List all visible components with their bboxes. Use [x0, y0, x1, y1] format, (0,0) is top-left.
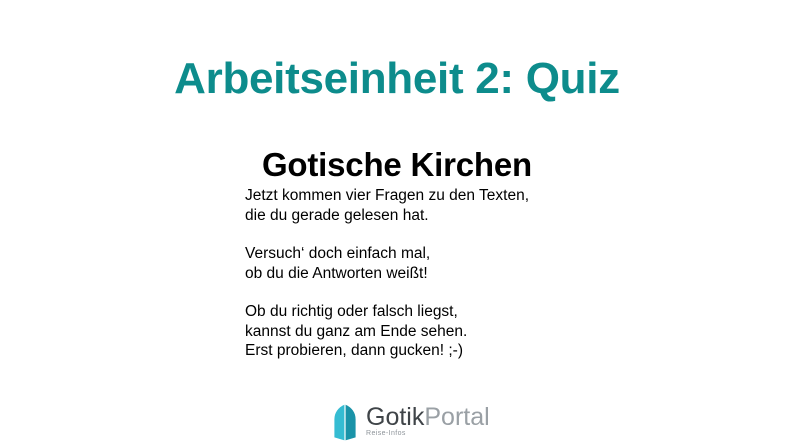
paragraph-3: Ob du richtig oder falsch liegst, kannst…: [245, 302, 665, 361]
gothic-arch-icon: [331, 404, 359, 441]
paragraph-1-line-2: die du gerade gelesen hat.: [245, 206, 665, 226]
slide-canvas: Arbeitseinheit 2: Quiz Gotische Kirchen …: [0, 0, 794, 446]
body-copy: Jetzt kommen vier Fragen zu den Texten, …: [245, 186, 665, 361]
logo-wordmark: GotikPortal: [366, 405, 490, 430]
paragraph-2-line-2: ob du die Antworten weißt!: [245, 264, 665, 284]
paragraph-1: Jetzt kommen vier Fragen zu den Texten, …: [245, 186, 665, 225]
gotikportal-logo: GotikPortal Reise-Infos: [331, 404, 490, 444]
logo-tagline: Reise-Infos: [366, 430, 490, 438]
paragraph-3-line-3: Erst probieren, dann gucken! ;-): [245, 341, 665, 361]
logo-text: GotikPortal Reise-Infos: [366, 404, 490, 438]
page-title: Arbeitseinheit 2: Quiz: [0, 55, 794, 103]
paragraph-3-line-1: Ob du richtig oder falsch liegst,: [245, 302, 665, 322]
paragraph-3-line-2: kannst du ganz am Ende sehen.: [245, 322, 665, 342]
paragraph-1-line-1: Jetzt kommen vier Fragen zu den Texten,: [245, 186, 665, 206]
paragraph-2: Versuch‘ doch einfach mal, ob du die Ant…: [245, 244, 665, 283]
paragraph-2-line-1: Versuch‘ doch einfach mal,: [245, 244, 665, 264]
logo-word-primary: Gotik: [366, 403, 424, 431]
logo-word-secondary: Portal: [424, 403, 489, 431]
slide-subtitle: Gotische Kirchen: [0, 147, 794, 184]
